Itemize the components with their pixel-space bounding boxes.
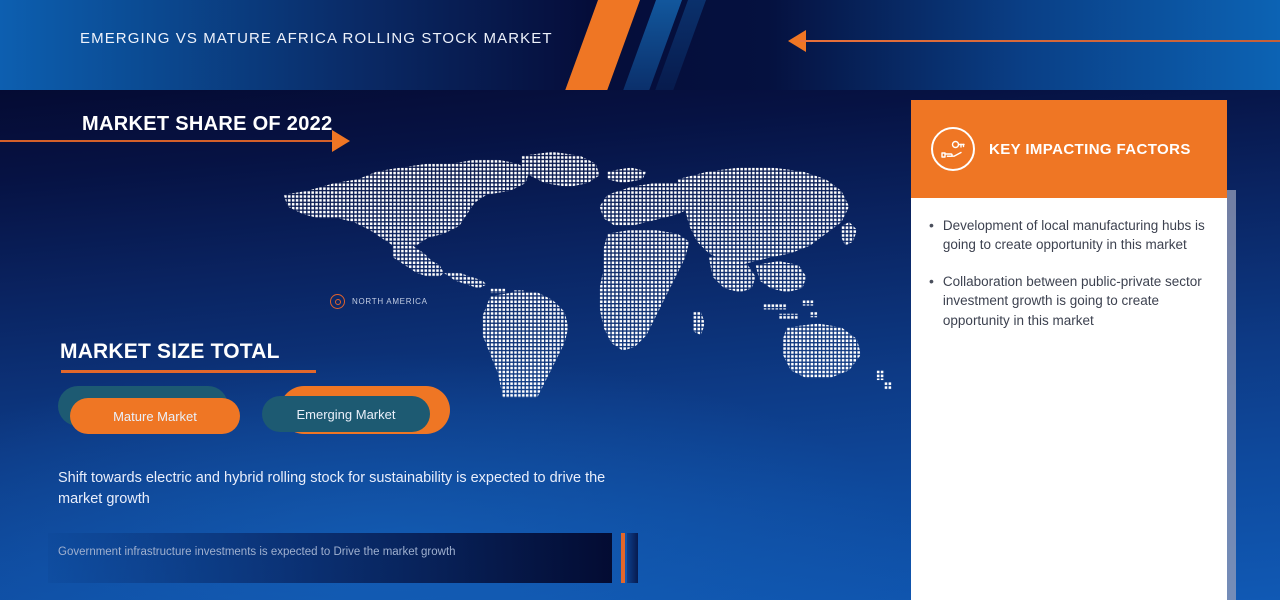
legend-emerging-label[interactable]: Emerging Market <box>262 396 430 432</box>
header-arrow-line <box>800 40 1280 42</box>
market-size-title: MARKET SIZE TOTAL <box>60 340 280 364</box>
key-factor-text: Collaboration between public-private sec… <box>943 272 1209 329</box>
market-share-title: MARKET SHARE OF 2022 <box>82 113 333 136</box>
target-ring-icon <box>330 294 345 309</box>
legend-item-mature-market[interactable]: Mature Market <box>58 386 243 438</box>
bullet-icon: • <box>929 216 934 254</box>
north-america-marker: NORTH AMERICA <box>330 294 428 309</box>
legend-mature-label[interactable]: Mature Market <box>70 398 240 434</box>
key-factors-header: KEY IMPACTING FACTORS <box>911 100 1227 198</box>
secondary-callout-text: Government infrastructure investments is… <box>58 546 456 558</box>
key-factors-body: • Development of local manufacturing hub… <box>911 198 1227 600</box>
hand-holding-key-icon <box>931 127 975 171</box>
bullet-icon: • <box>929 272 934 329</box>
key-factor-text: Development of local manufacturing hubs … <box>943 216 1209 254</box>
north-america-label: NORTH AMERICA <box>352 297 428 306</box>
key-factors-heading: KEY IMPACTING FACTORS <box>989 141 1191 158</box>
page-header: EMERGING VS MATURE AFRICA ROLLING STOCK … <box>0 0 1280 90</box>
market-share-arrow-line <box>0 140 334 142</box>
market-size-underline <box>61 370 316 373</box>
dotted-world-map <box>272 148 892 398</box>
key-factors-panel-shadow <box>1227 190 1236 600</box>
page-title: EMERGING VS MATURE AFRICA ROLLING STOCK … <box>80 30 553 47</box>
secondary-callout-box-tail <box>627 533 638 583</box>
primary-callout-text: Shift towards electric and hybrid rollin… <box>58 468 618 509</box>
legend-item-emerging-market[interactable]: Emerging Market <box>262 386 452 438</box>
key-factor-item: • Development of local manufacturing hub… <box>929 216 1209 254</box>
secondary-callout-accent-bar <box>621 533 625 583</box>
world-map-svg <box>272 148 892 398</box>
secondary-callout-box <box>48 533 612 583</box>
key-factor-item: • Collaboration between public-private s… <box>929 272 1209 329</box>
arrow-right-icon <box>332 130 350 152</box>
